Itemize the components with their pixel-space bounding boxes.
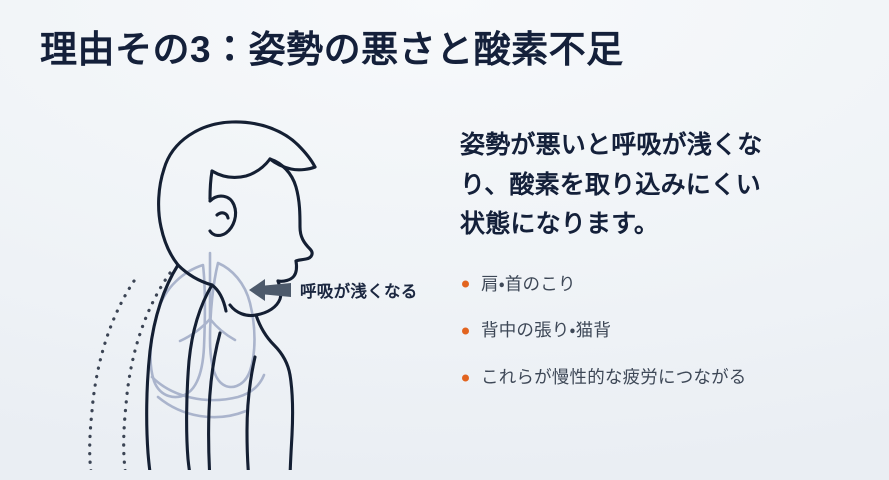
right-content-column: 姿勢が悪いと呼吸が浅くな り、酸素を取り込みにくい 状態になります。 肩・首のこ… xyxy=(460,126,860,389)
list-item: これらが慢性的な疲労につながる xyxy=(460,366,860,390)
bullet-dot-icon xyxy=(462,374,469,381)
callout-label: 呼吸が浅くなる xyxy=(300,278,418,302)
bullet-dot-icon xyxy=(462,327,469,334)
symptom-list: 肩・首のこり 背中の張り・猫背 これらが慢性的な疲労につながる xyxy=(460,273,860,390)
lungs-icon xyxy=(151,253,264,417)
lead-line-1: 姿勢が悪いと呼吸が浅くな xyxy=(460,126,860,166)
page-title: 理由その3：姿勢の悪さと酸素不足 xyxy=(40,28,624,72)
list-item: 肩・首のこり xyxy=(460,273,860,297)
list-item: 背中の張り・猫背 xyxy=(460,319,860,343)
list-item-label: 肩・首のこり xyxy=(481,274,576,294)
list-item-label: 背中の張り・猫背 xyxy=(481,320,611,340)
lead-line-2: り、酸素を取り込みにくい xyxy=(460,166,860,206)
breathing-callout: 呼吸が浅くなる xyxy=(248,277,418,303)
bullet-dot-icon xyxy=(462,281,469,288)
arrow-left-icon xyxy=(248,277,292,303)
slide-canvas: 理由その3：姿勢の悪さと酸素不足 xyxy=(0,0,889,480)
list-item-label: これらが慢性的な疲労につながる xyxy=(481,367,747,387)
lead-line-3: 状態になります。 xyxy=(460,205,860,245)
dotted-spine-guides xyxy=(90,273,170,470)
lead-paragraph: 姿勢が悪いと呼吸が浅くな り、酸素を取り込みにくい 状態になります。 xyxy=(460,126,860,245)
